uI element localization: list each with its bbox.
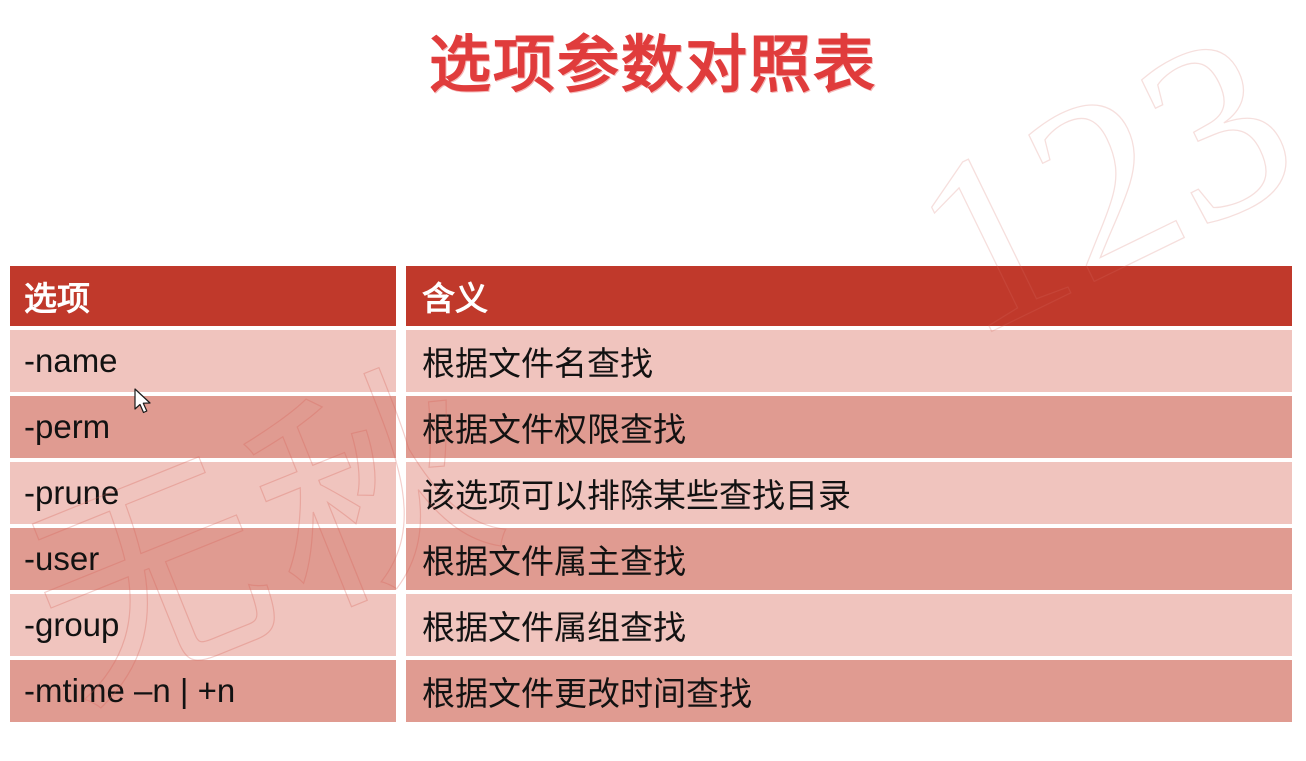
cell-option: -name bbox=[10, 330, 396, 392]
column-header-option: 选项 bbox=[10, 266, 396, 326]
cell-meaning: 根据文件权限查找 bbox=[406, 396, 1292, 458]
page-title: 选项参数对照表 bbox=[0, 14, 1306, 104]
options-comparison-table: 选项 含义 -name 根据文件名查找 -perm 根据文件权限查找 -prun… bbox=[10, 266, 1292, 722]
cell-meaning: 根据文件属主查找 bbox=[406, 528, 1292, 590]
cell-meaning: 该选项可以排除某些查找目录 bbox=[406, 462, 1292, 524]
table-row: -user 根据文件属主查找 bbox=[10, 528, 1292, 590]
table-row: -group 根据文件属组查找 bbox=[10, 594, 1292, 656]
cell-option: -group bbox=[10, 594, 396, 656]
table-header-row: 选项 含义 bbox=[10, 266, 1292, 326]
cell-option: -prune bbox=[10, 462, 396, 524]
cell-meaning: 根据文件更改时间查找 bbox=[406, 660, 1292, 722]
column-header-meaning: 含义 bbox=[406, 266, 1292, 326]
cell-option: -mtime –n | +n bbox=[10, 660, 396, 722]
table-row: -mtime –n | +n 根据文件更改时间查找 bbox=[10, 660, 1292, 722]
table-row: -perm 根据文件权限查找 bbox=[10, 396, 1292, 458]
cell-option: -user bbox=[10, 528, 396, 590]
cell-option: -perm bbox=[10, 396, 396, 458]
cell-meaning: 根据文件属组查找 bbox=[406, 594, 1292, 656]
table-row: -prune 该选项可以排除某些查找目录 bbox=[10, 462, 1292, 524]
cell-meaning: 根据文件名查找 bbox=[406, 330, 1292, 392]
table-row: -name 根据文件名查找 bbox=[10, 330, 1292, 392]
